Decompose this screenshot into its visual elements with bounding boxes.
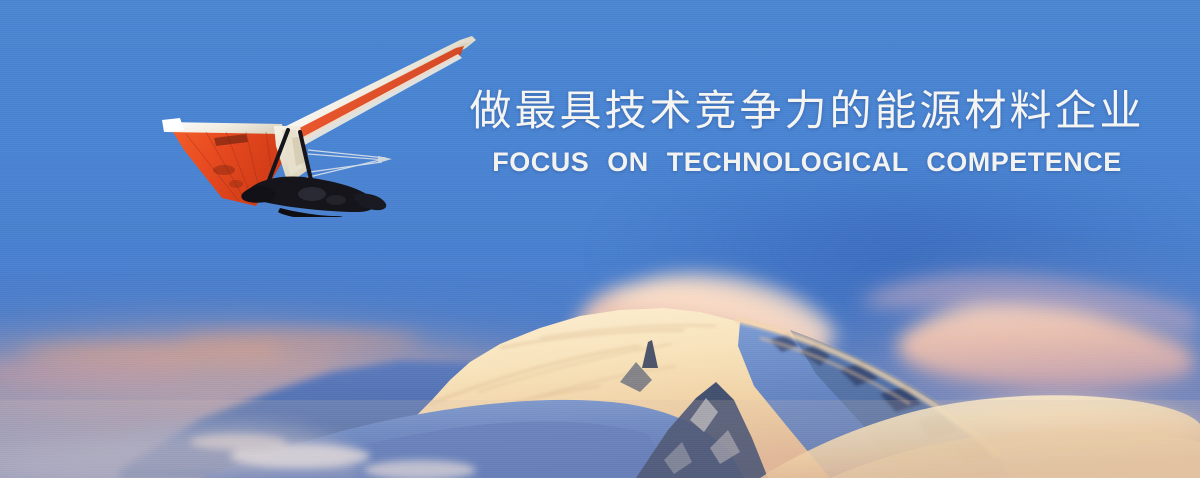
slogan-chinese: 做最具技术竞争力的能源材料企业: [422, 86, 1192, 136]
slogan-english: FOCUS ON TECHNOLOGICAL COMPETENCE: [422, 146, 1192, 178]
slogan-block: 做最具技术竞争力的能源材料企业 FOCUS ON TECHNOLOGICAL C…: [422, 86, 1192, 178]
hero-banner: 做最具技术竞争力的能源材料企业 FOCUS ON TECHNOLOGICAL C…: [0, 0, 1200, 478]
glider-tail-fitting: [378, 156, 392, 163]
atmospheric-glow: [0, 400, 1200, 478]
glider-pilot: [241, 177, 386, 218]
